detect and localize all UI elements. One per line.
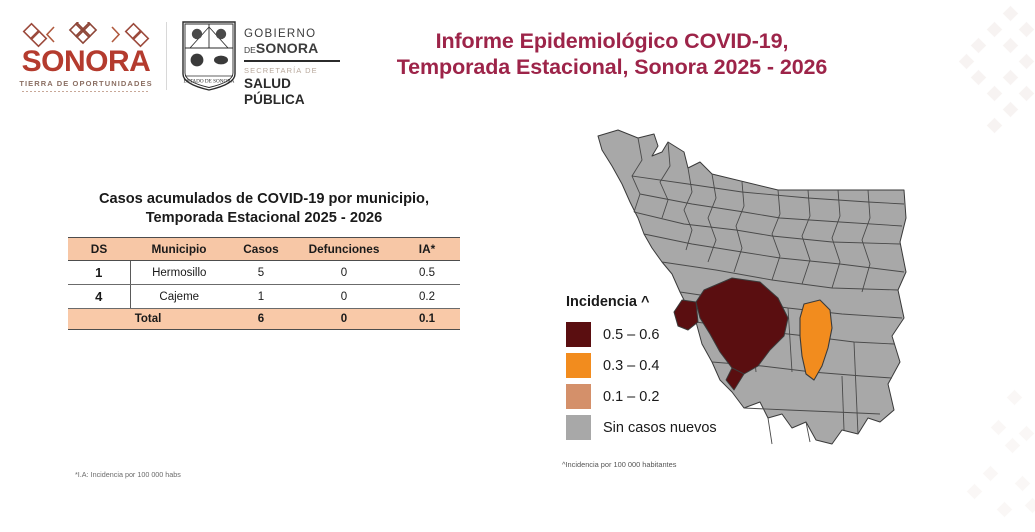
table-row: 4 Cajeme 1 0 0.2 <box>68 285 460 309</box>
table-title-line-2: Temporada Estacional 2025 - 2026 <box>68 209 460 228</box>
logo-divider <box>166 22 167 90</box>
legend-item: 0.3 – 0.4 <box>566 353 717 378</box>
cases-table-block: Casos acumulados de COVID-19 por municip… <box>68 190 460 330</box>
table-total-row: Total 6 0 0.1 <box>68 309 460 330</box>
column-header-defunciones: Defunciones <box>294 238 394 261</box>
gobierno-line-2: DESONORA <box>244 41 344 58</box>
watermark-diamonds-bottom-right <box>961 382 1035 532</box>
gobierno-line-2-prefix: DE <box>244 45 256 55</box>
legend-swatch <box>566 353 591 378</box>
legend-label: Sin casos nuevos <box>603 420 717 436</box>
legend-item: 0.5 – 0.6 <box>566 322 717 347</box>
total-casos: 6 <box>228 309 294 330</box>
table-header-row: DS Municipio Casos Defunciones IA* <box>68 238 460 261</box>
cell-ia: 0.2 <box>394 285 460 309</box>
page-title: Informe Epidemiológico COVID-19, Tempora… <box>372 28 852 80</box>
legend-item: 0.1 – 0.2 <box>566 384 717 409</box>
legend-swatch <box>566 384 591 409</box>
legend-label: 0.1 – 0.2 <box>603 389 659 405</box>
cell-ds: 4 <box>68 285 130 309</box>
legend-item: Sin casos nuevos <box>566 415 717 440</box>
header-bar: SONORA TIERRA DE OPORTUNIDADES <box>0 0 1035 112</box>
column-header-ds: DS <box>68 238 130 261</box>
cell-ia: 0.5 <box>394 261 460 285</box>
column-header-casos: Casos <box>228 238 294 261</box>
cell-casos: 5 <box>228 261 294 285</box>
legend-swatch <box>566 322 591 347</box>
gobierno-logo-rule <box>244 60 340 62</box>
legend-swatch <box>566 415 591 440</box>
svg-text:ESTADO DE SONORA: ESTADO DE SONORA <box>184 79 235 85</box>
table-title: Casos acumulados de COVID-19 por municip… <box>68 190 460 228</box>
column-header-municipio: Municipio <box>130 238 228 261</box>
cases-table: DS Municipio Casos Defunciones IA* 1 Her… <box>68 237 460 330</box>
gobierno-line-2-bold: SONORA <box>256 40 319 56</box>
sonora-brand-logo: SONORA TIERRA DE OPORTUNIDADES <box>16 22 156 94</box>
map-legend: Incidencia ^ 0.5 – 0.6 0.3 – 0.4 0.1 – 0… <box>566 294 717 446</box>
table-row: 1 Hermosillo 5 0 0.5 <box>68 261 460 285</box>
total-ia: 0.1 <box>394 309 460 330</box>
legend-title: Incidencia ^ <box>566 294 717 310</box>
page-title-line-2: Temporada Estacional, Sonora 2025 - 2026 <box>372 54 852 80</box>
legend-label: 0.3 – 0.4 <box>603 358 659 374</box>
total-defunciones: 0 <box>294 309 394 330</box>
page-title-line-1: Informe Epidemiológico COVID-19, <box>372 28 852 54</box>
column-header-ia: IA* <box>394 238 460 261</box>
cell-municipio: Hermosillo <box>130 261 228 285</box>
table-body: 1 Hermosillo 5 0 0.5 4 Cajeme 1 0 0.2 To… <box>68 261 460 330</box>
coat-of-arms-icon: ESTADO DE SONORA <box>180 20 238 92</box>
sonora-wordmark-text: SONORA <box>22 45 151 78</box>
gobierno-sonora-logo: ESTADO DE SONORA GOBIERNO DESONORA SECRE… <box>180 20 345 94</box>
salud-publica-line: SALUD PÚBLICA <box>244 76 344 108</box>
cell-municipio: Cajeme <box>130 285 228 309</box>
table-title-line-1: Casos acumulados de COVID-19 por municip… <box>68 190 460 209</box>
legend-footnote: ^Incidencia por 100 000 habitantes <box>562 460 782 469</box>
sonora-wordmark: SONORA <box>16 46 156 78</box>
total-label: Total <box>68 309 228 330</box>
sonora-tagline: TIERRA DE OPORTUNIDADES <box>16 79 156 88</box>
slide-canvas: SONORA TIERRA DE OPORTUNIDADES <box>0 0 1035 532</box>
legend-label: 0.5 – 0.6 <box>603 327 659 343</box>
secretaria-line: SECRETARÍA DE <box>244 65 344 76</box>
gobierno-logo-text: GOBIERNO DESONORA SECRETARÍA DE SALUD PÚ… <box>244 28 344 108</box>
cell-defunciones: 0 <box>294 285 394 309</box>
table-footnote: *I.A: Incidencia por 100 000 habs <box>75 470 181 479</box>
cell-ds: 1 <box>68 261 130 285</box>
table-head: DS Municipio Casos Defunciones IA* <box>68 238 460 261</box>
sonora-logo-underline <box>22 91 150 92</box>
cell-casos: 1 <box>228 285 294 309</box>
cell-defunciones: 0 <box>294 261 394 285</box>
